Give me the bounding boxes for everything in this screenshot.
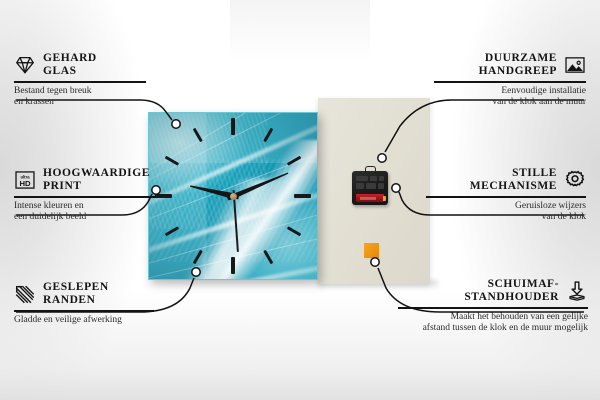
callout-rule xyxy=(426,196,586,197)
gear-icon xyxy=(564,169,586,191)
callout-subtitle: Intense kleuren en een duidelijk beeld xyxy=(14,201,174,224)
callout-rule xyxy=(434,81,586,82)
callout-stille-mechanisme[interactable]: STILLE MECHANISME Geruisloze wijzers van… xyxy=(416,167,586,224)
callout-header: SCHUIMAF- STANDHOUDER xyxy=(382,278,588,304)
callout-title: GEHARD GLAS xyxy=(43,52,97,78)
callout-duurzame-handgreep[interactable]: DUURZAME HANDGREEP Eenvoudige installati… xyxy=(411,52,586,109)
callout-gehard-glas[interactable]: GEHARD GLAS Bestand tegen breuk en krass… xyxy=(14,52,164,109)
callout-header: GESLEPEN RANDEN xyxy=(14,281,174,307)
callout-header: GEHARD GLAS xyxy=(14,52,164,78)
callout-subtitle: Bestand tegen breuk en krassen xyxy=(14,86,164,109)
callout-hoogwaardige-print[interactable]: ultra HD HOOGWAARDIGE PRINT Intense kleu… xyxy=(14,167,174,224)
hands-center-cap xyxy=(230,193,237,200)
callout-rule xyxy=(14,196,157,197)
clock-movement-mechanism xyxy=(352,171,388,205)
picture-frame-icon xyxy=(564,54,586,76)
callout-geslepen-randen[interactable]: GESLEPEN RANDEN Gladde en veilige afwerk… xyxy=(14,281,174,326)
ultra-hd-icon: ultra HD xyxy=(14,169,36,191)
mechanism-detail xyxy=(356,176,384,189)
spacer-stack-icon xyxy=(566,280,588,302)
svg-text:HD: HD xyxy=(19,179,31,188)
callout-header: DUURZAME HANDGREEP xyxy=(411,52,586,78)
callout-title: DUURZAME HANDGREEP xyxy=(479,52,557,78)
callout-subtitle: Maakt het behouden van een gelijke afsta… xyxy=(382,312,588,335)
foam-spacer-pad xyxy=(364,243,379,258)
callout-schuimaf-standhouder[interactable]: SCHUIMAF- STANDHOUDER Maakt het behouden… xyxy=(382,278,588,335)
diamond-icon xyxy=(14,54,36,76)
callout-subtitle: Gladde en veilige afwerking xyxy=(14,315,174,327)
callout-header: ultra HD HOOGWAARDIGE PRINT xyxy=(14,167,174,193)
callout-subtitle: Eenvoudige installatie van de klok aan d… xyxy=(411,86,586,109)
callout-subtitle: Geruisloze wijzers van de klok xyxy=(416,201,586,224)
callout-rule xyxy=(14,310,154,311)
bevelled-edges-icon xyxy=(14,283,36,305)
battery xyxy=(356,194,384,202)
infographic-canvas: GEHARD GLAS Bestand tegen breuk en krass… xyxy=(0,0,600,400)
callout-title: SCHUIMAF- STANDHOUDER xyxy=(464,278,559,304)
callout-rule xyxy=(14,81,146,82)
hanger-loop-icon xyxy=(365,166,376,174)
callout-title: GESLEPEN RANDEN xyxy=(43,281,109,307)
callout-title: HOOGWAARDIGE PRINT xyxy=(43,167,150,193)
callout-title: STILLE MECHANISME xyxy=(470,167,557,193)
callout-rule xyxy=(398,307,588,308)
callout-header: STILLE MECHANISME xyxy=(416,167,586,193)
